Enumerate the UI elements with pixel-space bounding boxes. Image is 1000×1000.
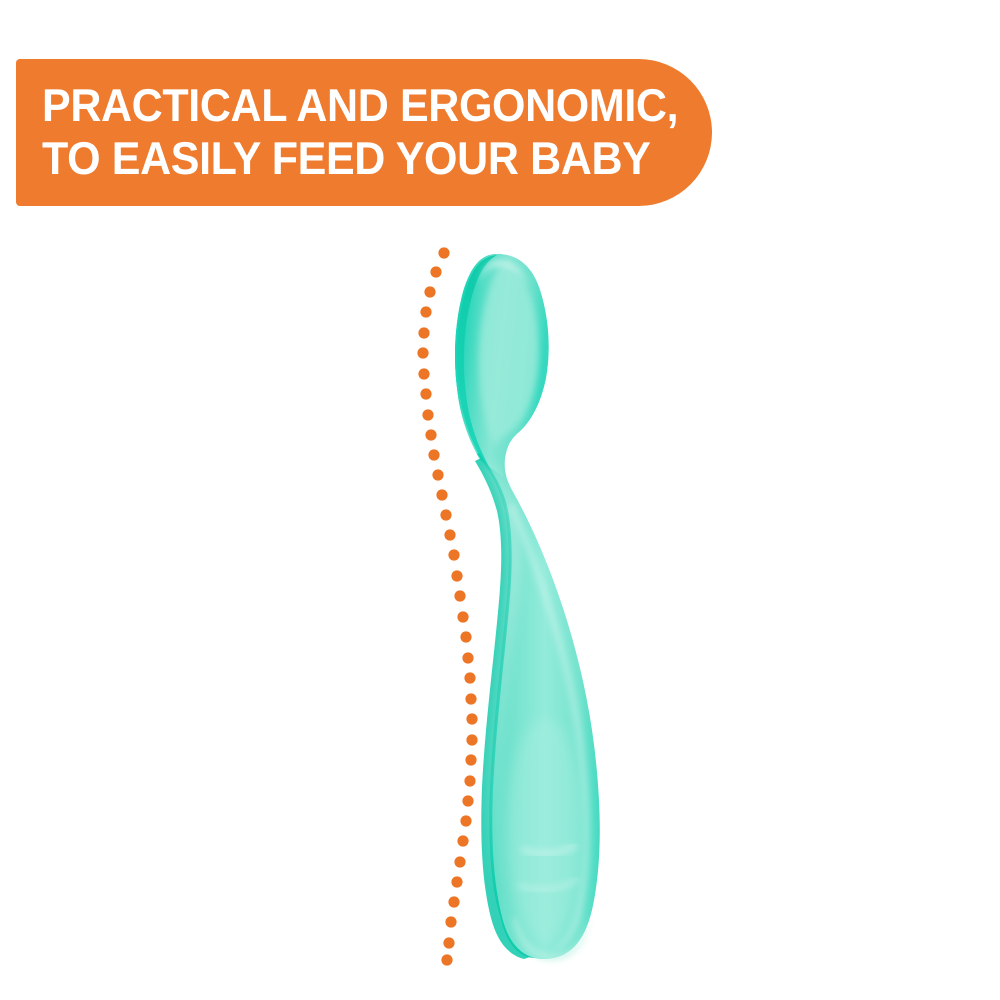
spoon-graphic xyxy=(455,254,600,960)
accent-dot xyxy=(464,672,475,683)
accent-dot xyxy=(417,347,428,358)
accent-dot xyxy=(465,754,476,765)
accent-dot xyxy=(466,713,477,724)
accent-dot xyxy=(418,368,429,379)
accent-dot xyxy=(451,570,462,581)
accent-dot xyxy=(420,388,431,399)
accent-dot xyxy=(462,795,473,806)
accent-dot xyxy=(457,835,468,846)
accent-dot xyxy=(425,429,436,440)
accent-dot xyxy=(464,775,475,786)
accent-dot xyxy=(460,631,471,642)
accent-dot xyxy=(424,286,435,297)
accent-dot xyxy=(445,916,456,927)
accent-dot xyxy=(462,652,473,663)
accent-dot xyxy=(460,815,471,826)
accent-dot xyxy=(451,876,462,887)
accent-dot xyxy=(448,896,459,907)
accent-dot xyxy=(466,734,477,745)
accent-dot xyxy=(465,693,476,704)
headline-banner: PRACTICAL AND ERGONOMIC, TO EASILY FEED … xyxy=(16,59,712,206)
accent-dot xyxy=(444,529,455,540)
accent-dot xyxy=(441,954,452,965)
headline-line-2: TO EASILY FEED YOUR BABY xyxy=(42,132,668,185)
accent-dot xyxy=(457,611,468,622)
accent-dot xyxy=(420,306,431,317)
product-artwork xyxy=(0,210,1000,1000)
accent-dot xyxy=(454,856,465,867)
accent-dot xyxy=(418,327,429,338)
accent-dot xyxy=(454,590,465,601)
accent-dot xyxy=(430,266,441,277)
spoon-handle-core-glow xyxy=(507,718,583,942)
headline-line-1: PRACTICAL AND ERGONOMIC, xyxy=(42,79,668,132)
accent-dot xyxy=(428,449,439,460)
accent-dot xyxy=(422,409,433,420)
accent-dot xyxy=(443,937,454,948)
page-canvas: PRACTICAL AND ERGONOMIC, TO EASILY FEED … xyxy=(0,0,1000,1000)
accent-dot xyxy=(436,489,447,500)
accent-dot xyxy=(440,509,451,520)
accent-dot xyxy=(438,247,449,258)
accent-dot xyxy=(448,549,459,560)
accent-dot xyxy=(432,469,443,480)
